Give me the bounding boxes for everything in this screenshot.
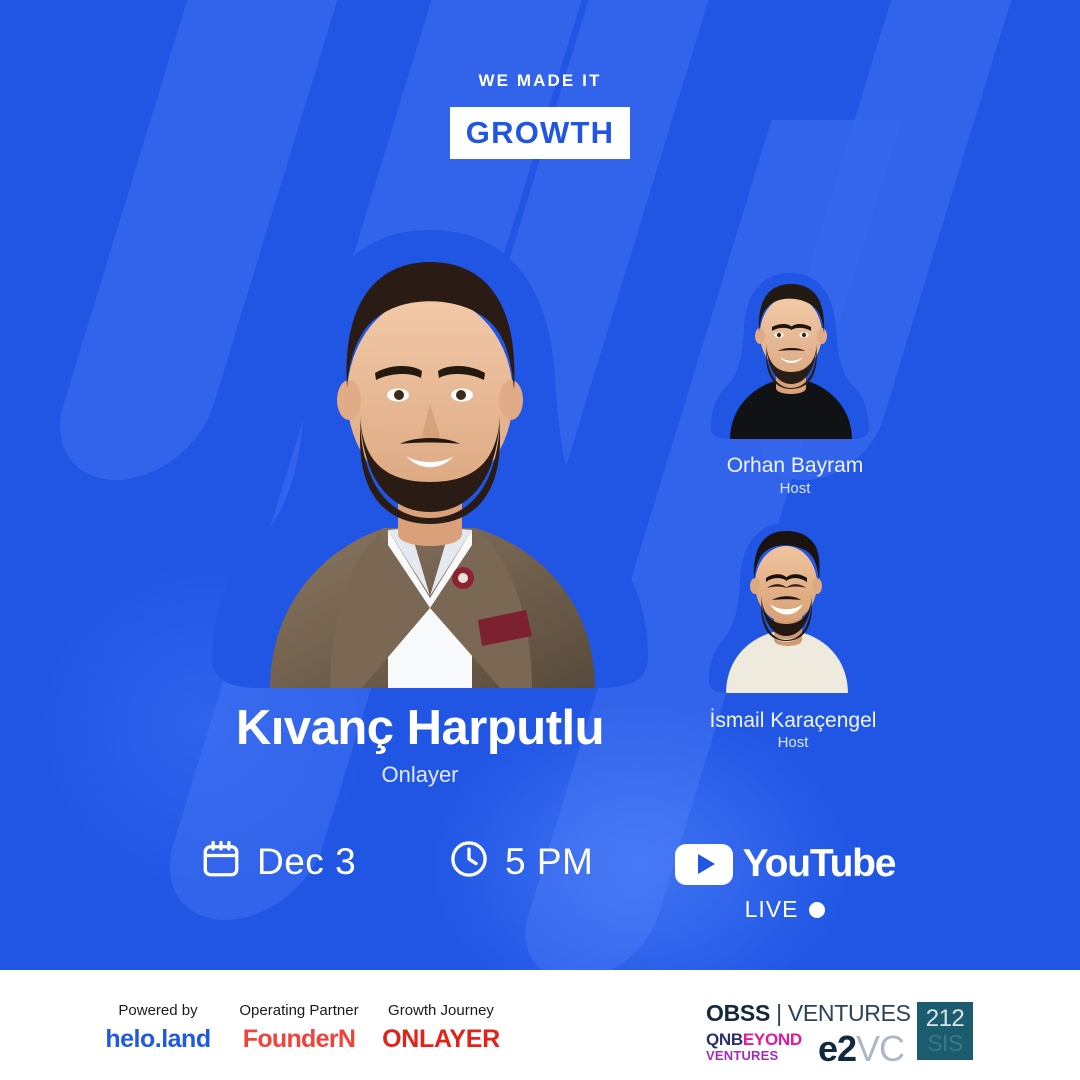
qnbeyond-wordmark: QNBEYOND [706,1031,802,1049]
obss-logo-rest: | VENTURES [770,1000,911,1026]
host-portrait-2 [708,522,863,694]
sponsor-growth-journey: Growth Journey ONLAYER [336,1002,546,1054]
host-portrait-1 [710,272,870,440]
onlayer-logo: ONLAYER [336,1025,546,1054]
broadcast-block[interactable]: YouTube LIVE [655,842,915,923]
e2vc-logo: e2VC [818,1028,904,1070]
live-label: LIVE [745,896,799,923]
event-poster: WE MADE IT GROWTH [0,0,1080,1080]
qnb-part: QNB [706,1030,743,1049]
host-card-2: İsmail Karaçengel Host [708,522,863,694]
speaker-portrait [210,228,650,690]
calendar-icon [200,838,242,885]
youtube-wordmark: YouTube [743,842,896,886]
event-time: 5 PM [448,838,593,885]
growth-badge-label: GROWTH [466,115,614,151]
speaker-name: Kıvanç Harputlu [100,700,740,756]
event-date: Dec 3 [200,838,356,885]
obss-ventures-logo: OBSS | VENTURES [706,1000,911,1027]
e2vc-logo-bold: e2 [818,1028,856,1069]
qnbeyond-subline: VENTURES [706,1049,802,1063]
host-role-1: Host [665,480,925,497]
speaker-company: Onlayer [100,762,740,788]
obss-logo-bold: OBSS [706,1000,770,1026]
clock-icon [448,838,490,885]
live-badge: LIVE [655,896,915,923]
host-role-2: Host [663,734,923,751]
qnbeyond-ventures-logo: QNBEYOND VENTURES [706,1031,802,1062]
212-sis-logo: 212 SIS [917,1002,973,1060]
212-logo-bottom: SIS [927,1032,963,1055]
growth-badge: GROWTH [450,107,630,159]
youtube-logo[interactable]: YouTube [655,842,915,886]
event-time-text: 5 PM [505,841,593,883]
event-date-text: Dec 3 [257,841,356,883]
eyond-part: EYOND [743,1030,802,1049]
212-logo-top: 212 [926,1007,965,1031]
host-card-1: Orhan Bayram Host [710,272,870,440]
host-name-2: İsmail Karaçengel [663,709,923,733]
sponsor-label-3: Growth Journey [336,1002,546,1019]
host-name-1: Orhan Bayram [665,454,925,478]
e2vc-logo-rest: VC [856,1028,904,1069]
youtube-play-icon [675,844,733,885]
live-indicator-icon [809,902,825,918]
poster-eyebrow: WE MADE IT [0,71,1080,91]
